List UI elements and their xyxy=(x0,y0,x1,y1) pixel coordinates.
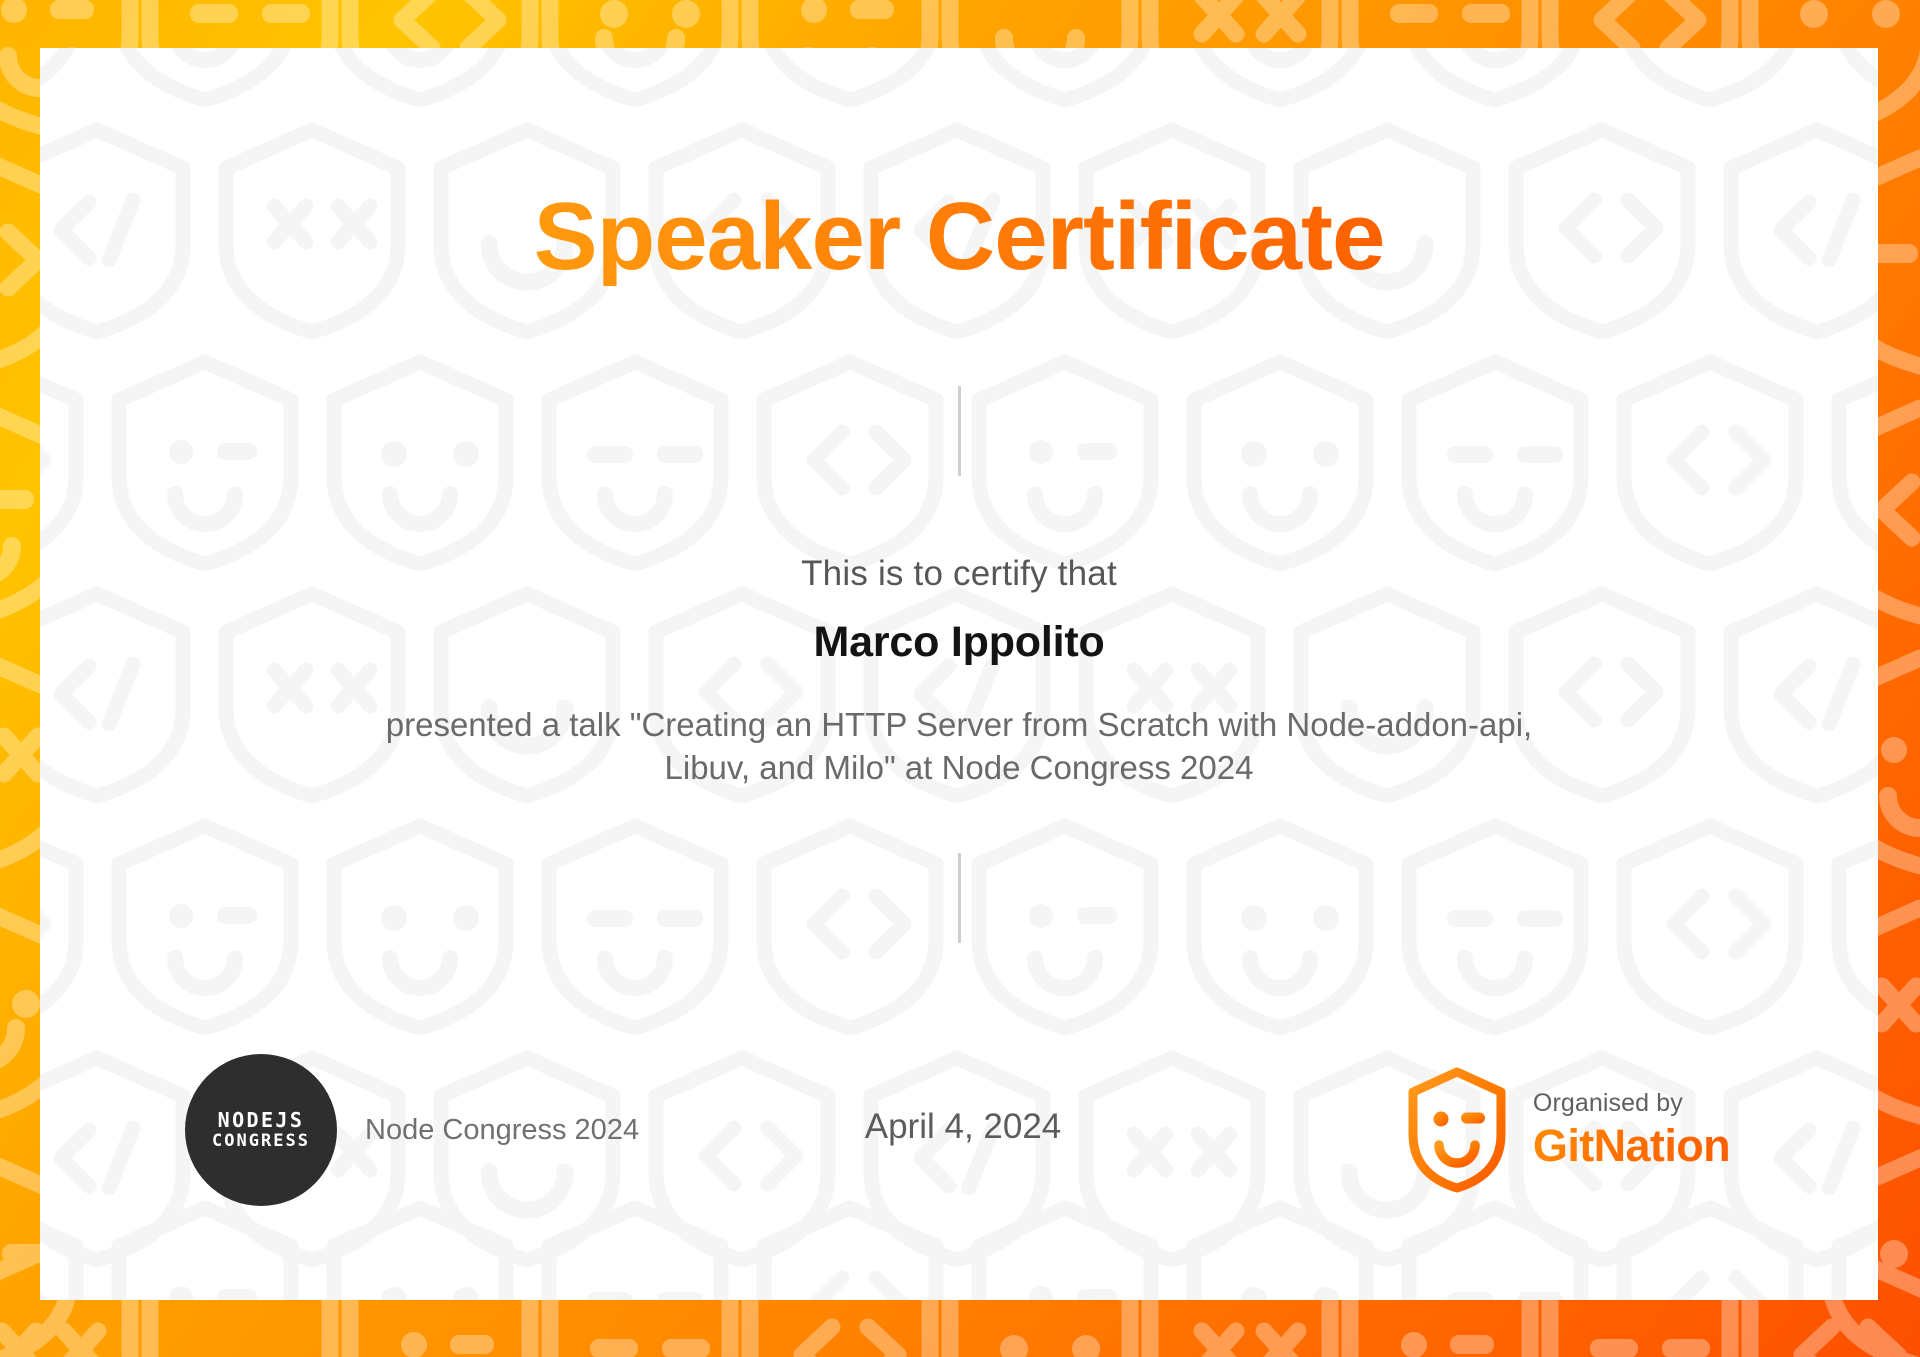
logo-word-nodejs: NODEJS xyxy=(218,1110,305,1130)
organised-by-label: Organised by xyxy=(1533,1089,1730,1118)
organiser-text: Organised by GitNation xyxy=(1533,1089,1730,1172)
certificate-frame: Speaker Certificate This is to certify t… xyxy=(0,0,1920,1357)
footer-event-block: NODEJS CONGRESS Node Congress 2024 xyxy=(185,1040,639,1220)
certificate-footer: NODEJS CONGRESS Node Congress 2024 April… xyxy=(40,1040,1878,1220)
divider-bottom xyxy=(958,853,961,943)
issue-date: April 4, 2024 xyxy=(865,1107,1062,1147)
certificate-card: Speaker Certificate This is to certify t… xyxy=(40,48,1878,1300)
footer-organiser-block: Organised by GitNation xyxy=(1403,1040,1730,1220)
divider-top xyxy=(958,386,961,476)
logo-line-nodejs: NODEJS xyxy=(218,1110,305,1130)
talk-description-line-1: presented a talk "Creating an HTTP Serve… xyxy=(229,703,1689,747)
logo-line-congress: CONGRESS xyxy=(212,1133,310,1150)
talk-description: presented a talk "Creating an HTTP Serve… xyxy=(229,703,1689,790)
organiser-name: GitNation xyxy=(1533,1120,1730,1172)
gitnation-shield-icon xyxy=(1403,1066,1511,1194)
event-label: Node Congress 2024 xyxy=(365,1114,639,1147)
talk-description-line-2: Libuv, and Milo" at Node Congress 2024 xyxy=(229,746,1689,790)
logo-word-congress: CONGRESS xyxy=(212,1133,310,1150)
recipient-name: Marco Ippolito xyxy=(813,618,1104,667)
certify-line: This is to certify that xyxy=(801,554,1117,594)
page-title: Speaker Certificate xyxy=(534,188,1385,286)
nodejs-congress-logo: NODEJS CONGRESS xyxy=(185,1054,337,1206)
